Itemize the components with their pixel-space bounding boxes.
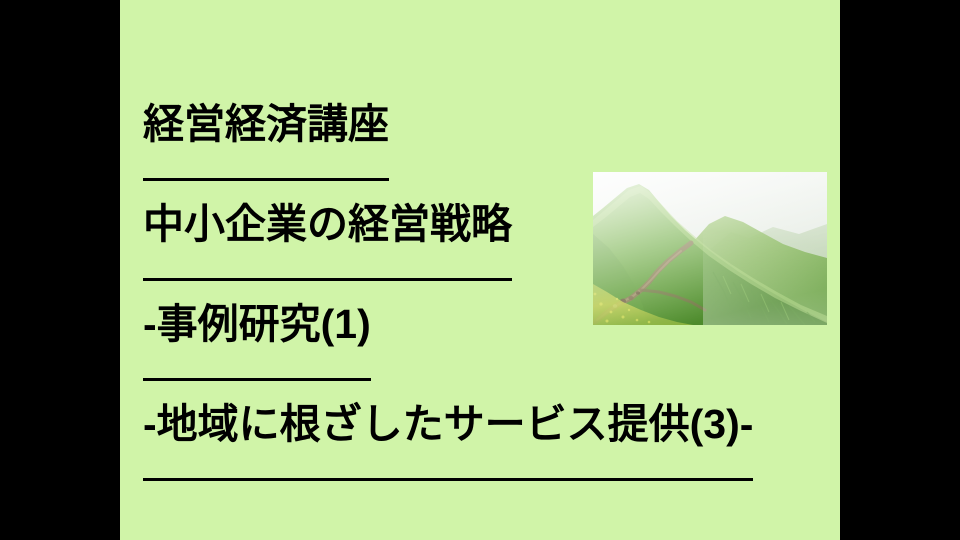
title-line-4: -地域に根ざしたサービス提供(3)- — [143, 374, 833, 474]
presentation-slide: 経営経済講座 中小企業の経営戦略 -事例研究(1) -地域に根ざしたサービス提供… — [120, 0, 840, 540]
letterbox-bar-left — [0, 0, 120, 540]
title-line-3-text: -事例研究(1) — [143, 274, 371, 381]
title-line-1-text: 経営経済講座 — [143, 74, 389, 181]
title-line-1: 経営経済講座 — [143, 74, 833, 174]
title-line-2-text: 中小企業の経営戦略 — [143, 174, 512, 281]
letterbox-bar-right — [840, 0, 960, 540]
title-line-4-text: -地域に根ざしたサービス提供(3)- — [143, 374, 753, 481]
mountain-ridge-photo — [593, 172, 827, 325]
slide-stage: 経営経済講座 中小企業の経営戦略 -事例研究(1) -地域に根ざしたサービス提供… — [0, 0, 960, 540]
mountain-ridge-illustration — [593, 172, 827, 325]
